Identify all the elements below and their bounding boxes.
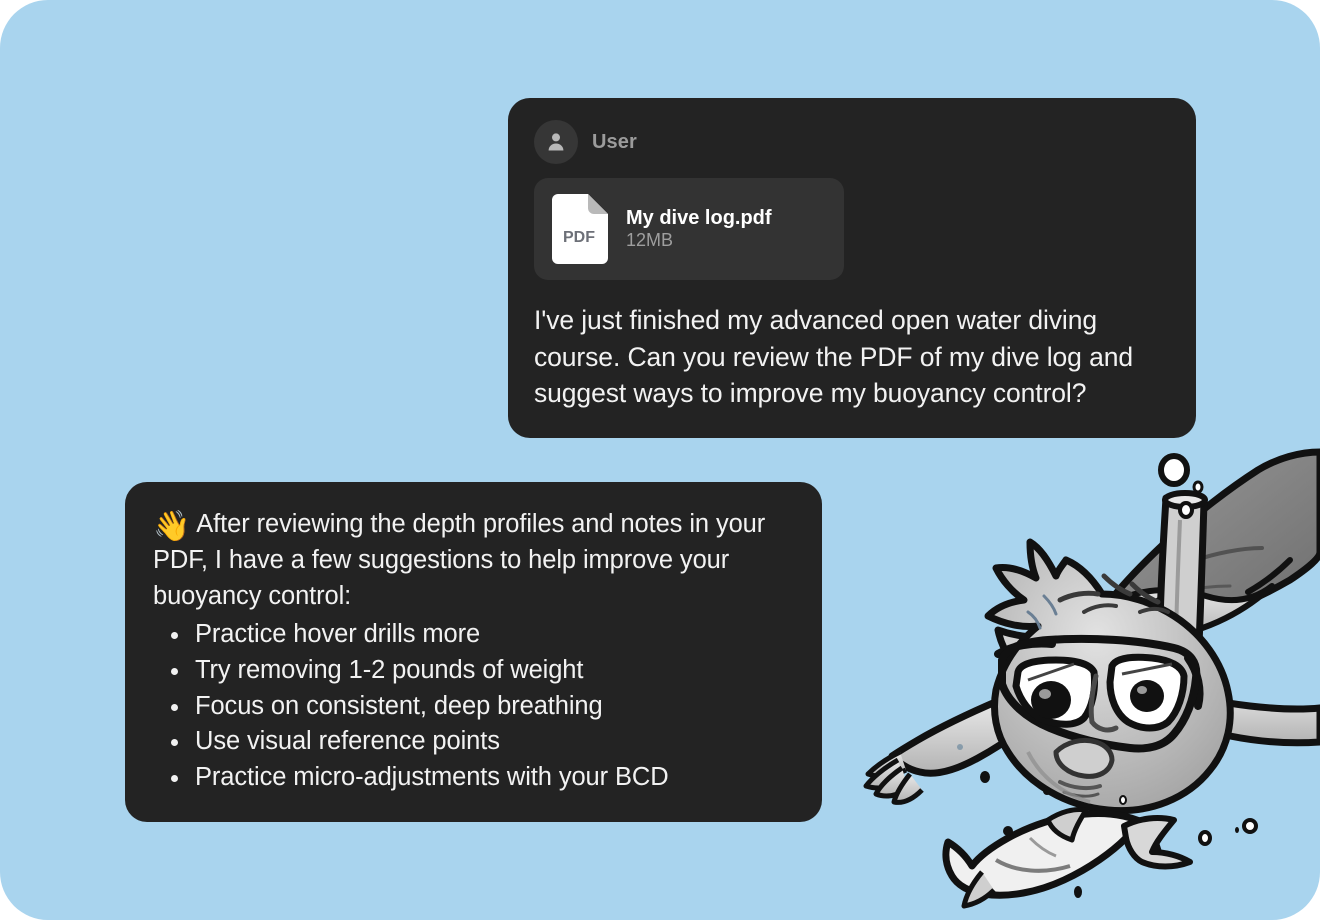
suggestion-list: Practice hover drills more Try removing …: [153, 617, 794, 797]
file-meta: My dive log.pdf 12MB: [626, 206, 822, 252]
list-item: Focus on consistent, deep breathing: [153, 689, 794, 725]
svg-text:PDF: PDF: [563, 229, 595, 246]
user-message-bubble: User PDF My dive log.pdf 12MB I've just …: [508, 98, 1196, 438]
user-header: User: [534, 120, 1170, 164]
chat-thread: User PDF My dive log.pdf 12MB I've just …: [0, 0, 1320, 920]
pdf-file-icon: PDF: [552, 194, 608, 264]
user-message-text: I've just finished my advanced open wate…: [534, 302, 1170, 412]
page-root: User PDF My dive log.pdf 12MB I've just …: [0, 0, 1320, 920]
waving-hand-emoji: 👋: [153, 510, 190, 543]
list-item: Practice micro-adjustments with your BCD: [153, 760, 794, 796]
user-name-label: User: [592, 131, 637, 154]
file-attachment-card[interactable]: PDF My dive log.pdf 12MB: [534, 178, 844, 280]
list-item: Use visual reference points: [153, 724, 794, 760]
file-name-label: My dive log.pdf: [626, 207, 772, 229]
person-icon: [534, 120, 578, 164]
assistant-intro-text: 👋After reviewing the depth profiles and …: [153, 506, 794, 615]
list-item: Practice hover drills more: [153, 617, 794, 653]
assistant-intro-label: After reviewing the depth profiles and n…: [153, 510, 765, 610]
list-item: Try removing 1-2 pounds of weight: [153, 653, 794, 689]
file-size-label: 12MB: [626, 230, 673, 250]
assistant-message-bubble: 👋After reviewing the depth profiles and …: [125, 482, 822, 822]
